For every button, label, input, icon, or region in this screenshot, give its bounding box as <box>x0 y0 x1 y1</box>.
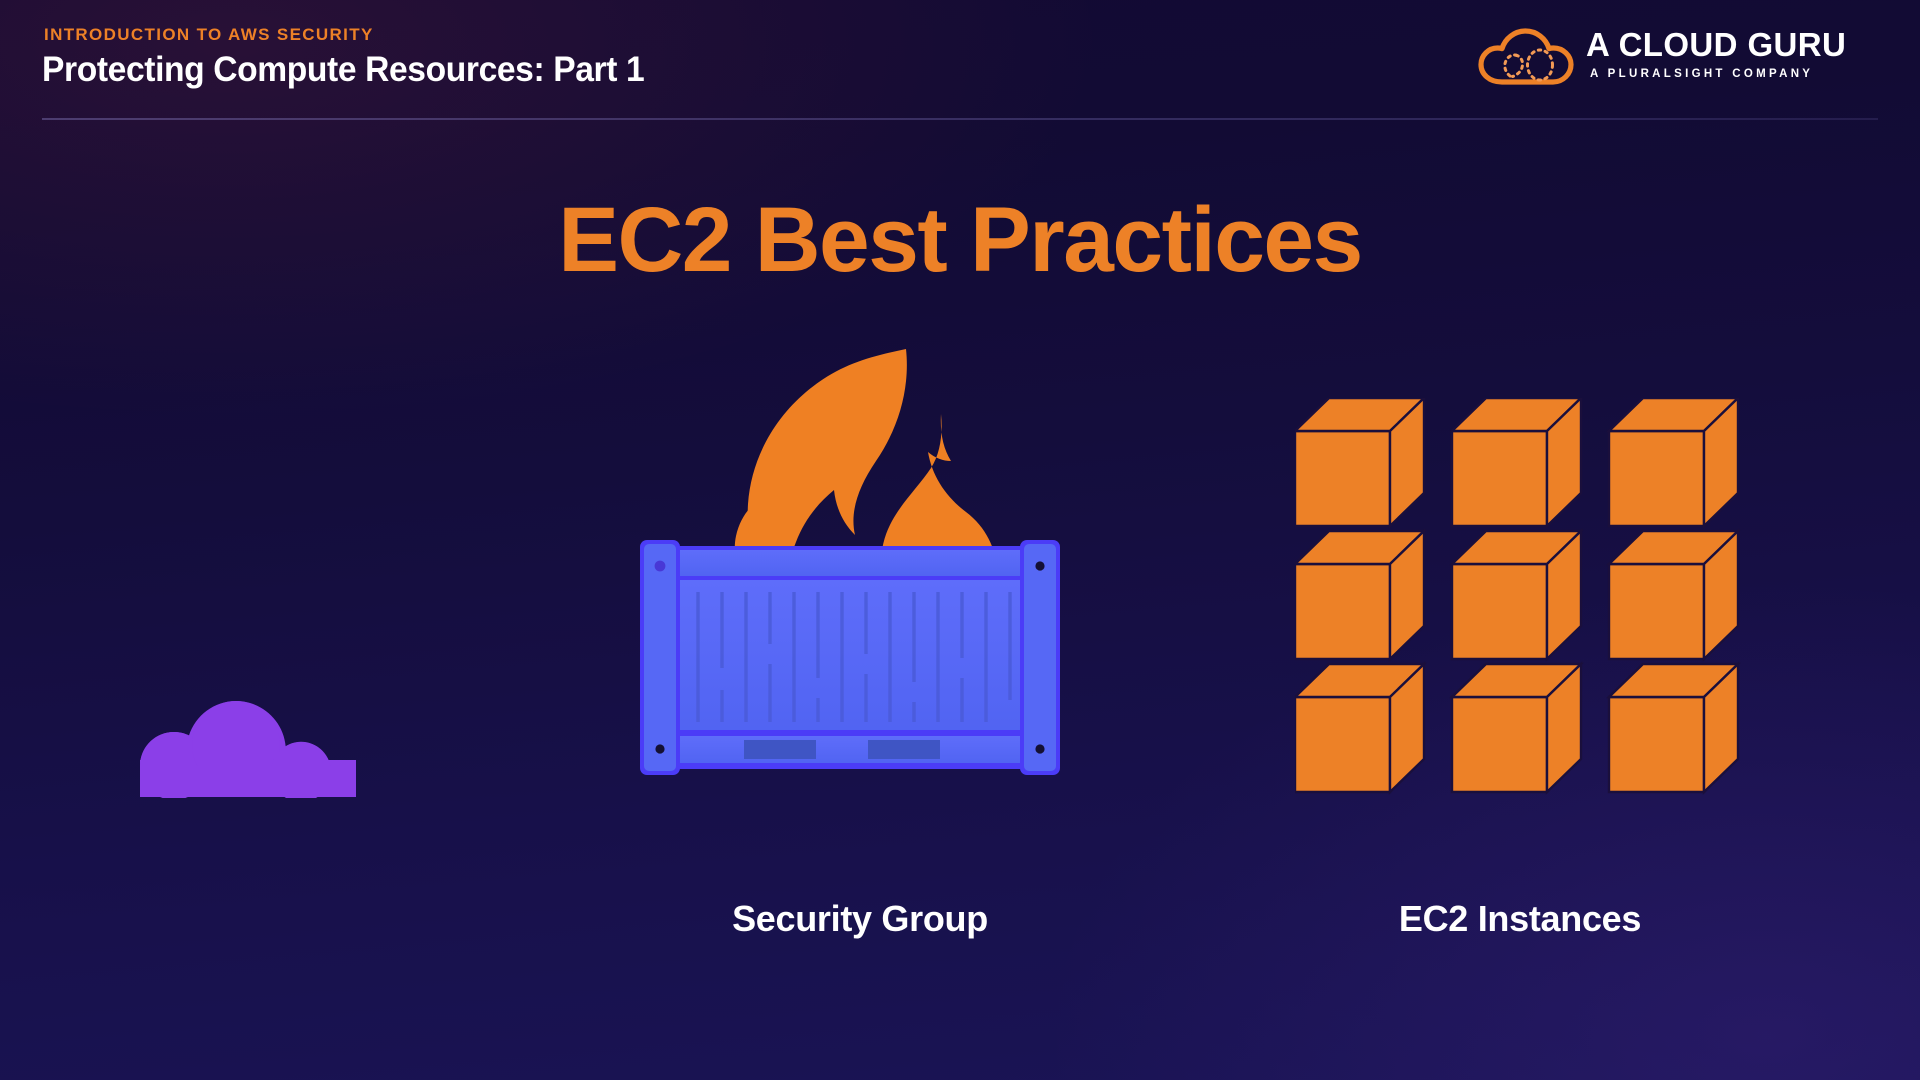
firewall-icon <box>640 540 1060 775</box>
page-title: EC2 Best Practices <box>10 188 1911 293</box>
cloud-icon <box>140 700 356 798</box>
cube-row <box>1609 664 1738 792</box>
slide-canvas: INTRODUCTION TO AWS SECURITY Protecting … <box>0 0 1920 1080</box>
ec2-instances-label: EC2 Instances <box>1300 898 1740 940</box>
logo-tagline: A PLURALSIGHT COMPANY <box>1590 68 1813 80</box>
logo-wordmark: A CLOUD GURU <box>1586 26 1846 64</box>
cloud-brain-icon <box>1478 26 1574 86</box>
cube-row <box>1609 531 1738 659</box>
security-group-label: Security Group <box>660 898 1060 940</box>
header-divider <box>42 118 1878 120</box>
course-eyebrow: INTRODUCTION TO AWS SECURITY <box>44 25 374 45</box>
cube-row <box>1609 398 1738 526</box>
cube-row <box>1452 664 1581 792</box>
lesson-title: Protecting Compute Resources: Part 1 <box>42 50 644 90</box>
cube-row <box>1295 531 1424 659</box>
brand-logo: A CLOUD GURU A PLURALSIGHT COMPANY <box>1478 20 1878 92</box>
cube-row <box>1295 664 1424 792</box>
cube-row <box>1295 398 1424 526</box>
security-group-illustration <box>640 340 1170 850</box>
cube-row <box>1452 531 1581 659</box>
ec2-instances-grid <box>1295 398 1755 798</box>
cube-row <box>1452 398 1581 526</box>
